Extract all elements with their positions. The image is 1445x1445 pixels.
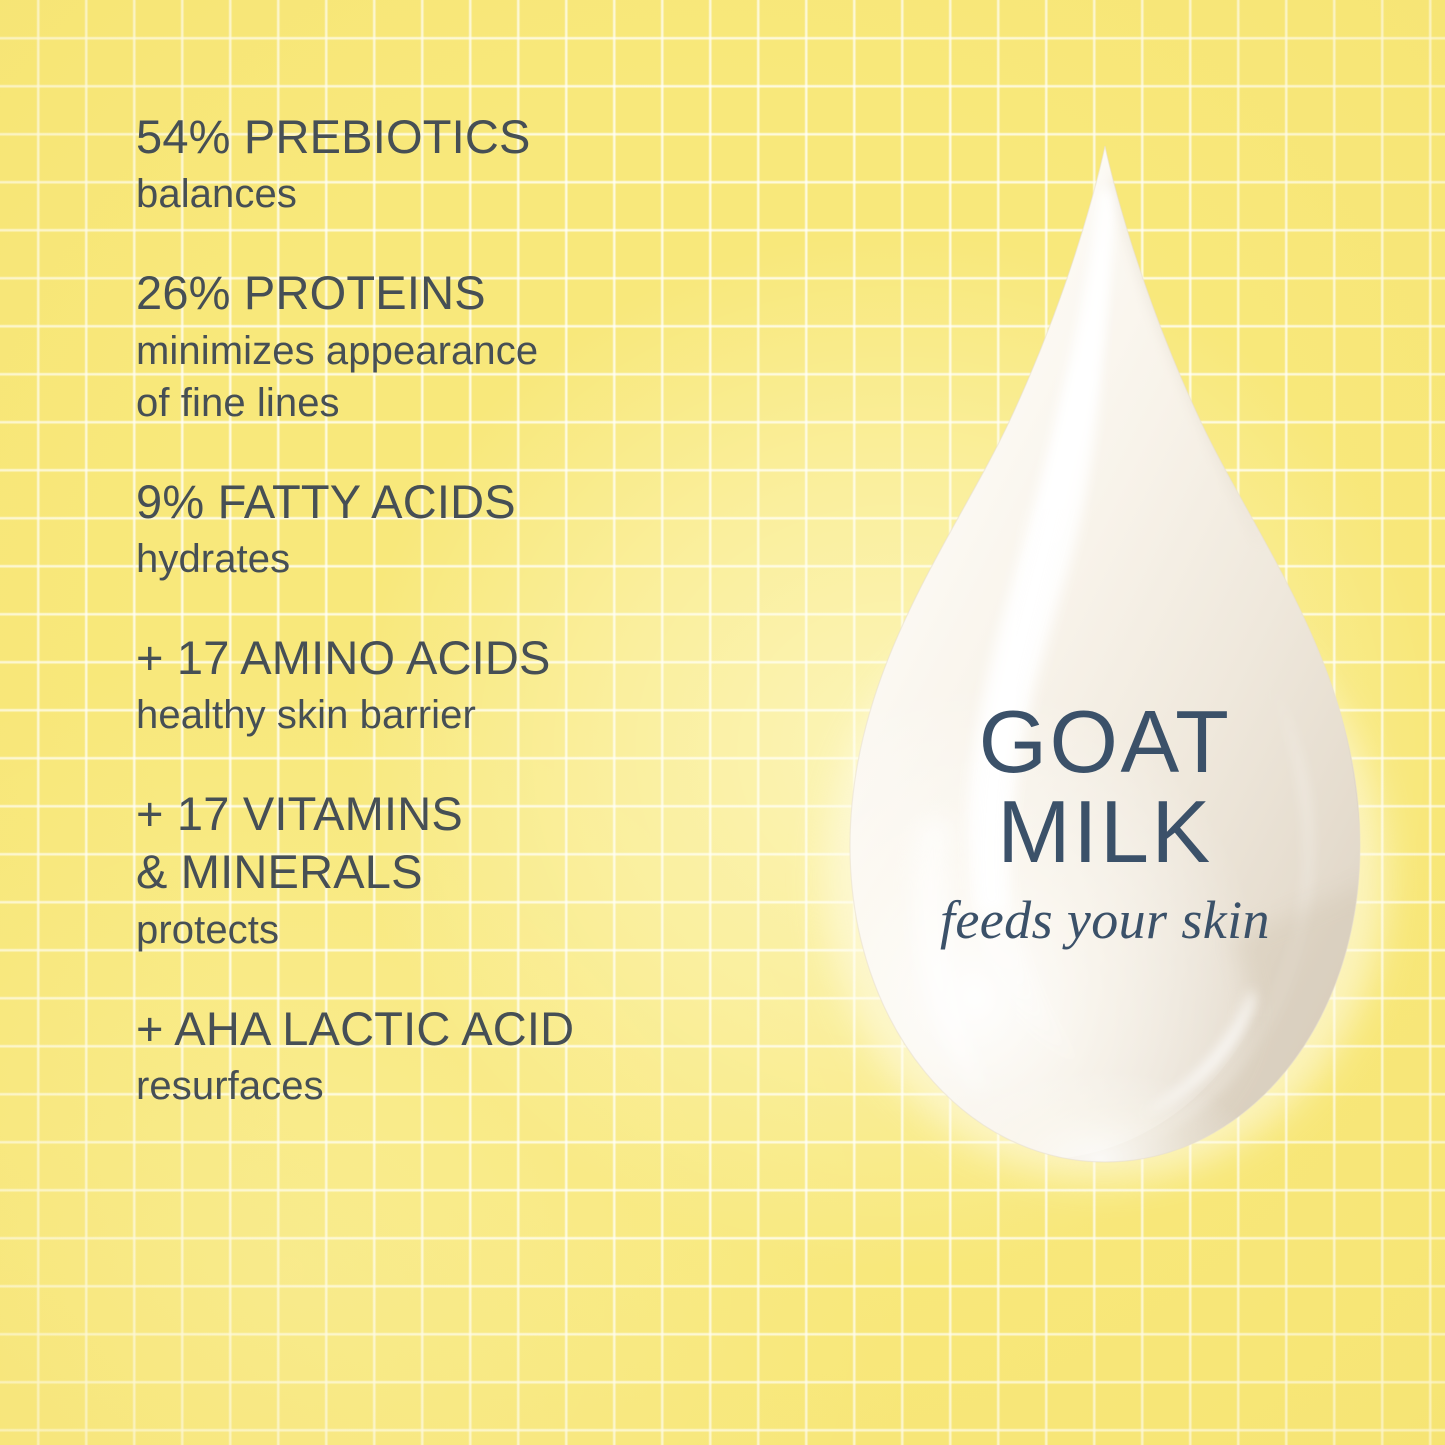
benefit-item-proteins: 26% PROTEINS minimizes appearance of fin…	[136, 264, 796, 428]
benefit-item-aha-lactic-acid: + AHA LACTIC ACID resurfaces	[136, 1000, 796, 1112]
benefit-item-vitamins-minerals: + 17 VITAMINS & MINERALS protects	[136, 785, 796, 956]
benefit-item-prebiotics: 54% PREBIOTICS balances	[136, 108, 796, 220]
droplet-bottom-caustic	[900, 965, 1300, 1185]
goat-milk-benefits-poster: 54% PREBIOTICS balances 26% PROTEINS min…	[0, 0, 1445, 1445]
benefit-title: 26% PROTEINS	[136, 264, 796, 322]
benefit-subtitle: healthy skin barrier	[136, 689, 796, 741]
benefit-subtitle: hydrates	[136, 533, 796, 585]
benefit-subtitle: minimizes appearance of fine lines	[136, 325, 796, 429]
benefit-subtitle: resurfaces	[136, 1060, 796, 1112]
benefit-title: + 17 AMINO ACIDS	[136, 629, 796, 687]
benefit-title: 54% PREBIOTICS	[136, 108, 796, 166]
benefit-item-amino-acids: + 17 AMINO ACIDS healthy skin barrier	[136, 629, 796, 741]
benefit-subtitle: balances	[136, 168, 796, 220]
benefits-list: 54% PREBIOTICS balances 26% PROTEINS min…	[136, 108, 796, 1112]
benefit-title: + 17 VITAMINS & MINERALS	[136, 785, 796, 902]
milk-droplet-illustration	[800, 120, 1410, 1190]
milk-droplet-icon	[800, 120, 1410, 1190]
benefit-title: + AHA LACTIC ACID	[136, 1000, 796, 1058]
benefit-subtitle: protects	[136, 904, 796, 956]
benefit-title: 9% FATTY ACIDS	[136, 473, 796, 531]
benefit-item-fatty-acids: 9% FATTY ACIDS hydrates	[136, 473, 796, 585]
